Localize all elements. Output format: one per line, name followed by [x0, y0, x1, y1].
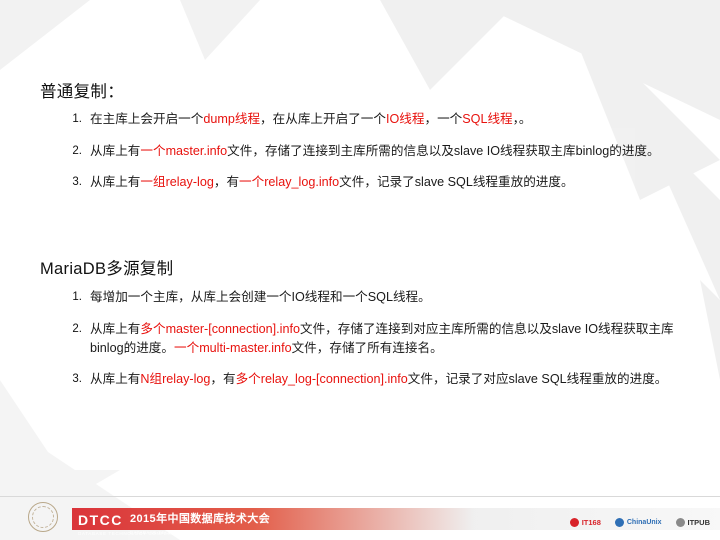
text-run: relay-log	[162, 372, 210, 386]
text-run: 文件，存储了连接到主库所需的信息以及slave IO线程获取主库binlog的进…	[227, 144, 659, 158]
list-item: 2. 从库上有多个master-[connection].info文件，存储了连…	[56, 320, 696, 358]
text-run: ，。	[513, 112, 532, 126]
text-run: relay_log-[connection].info	[261, 372, 408, 386]
conference-seal-icon	[22, 500, 62, 534]
sponsor-label: ChinaUnix	[627, 519, 662, 526]
seal-inner-ring	[32, 506, 54, 528]
text-run: 一个	[239, 175, 264, 189]
text-run: relay_log.info	[264, 175, 339, 189]
sponsor-label: IT168	[582, 518, 601, 527]
list-item-number: 2.	[56, 320, 90, 338]
list-item-number: 1.	[56, 288, 90, 306]
list-item: 2. 从库上有一个master.info文件，存储了连接到主库所需的信息以及sl…	[56, 142, 696, 161]
it168-mark-icon	[570, 518, 579, 527]
dtcc-logo: DTCC	[78, 512, 123, 528]
text-run: 多个	[140, 322, 165, 336]
slide-footer: DTCC DATABASE TECHNOLOGY CONFERENCE CHIN…	[0, 496, 720, 540]
sponsor-itpub: ITPUB	[676, 518, 711, 527]
sponsor-it168: IT168	[570, 518, 601, 527]
text-run: 从库上有	[90, 322, 140, 336]
text-run: 文件，记录了slave SQL线程重放的进度。	[339, 175, 573, 189]
list-item-text: 在主库上会开启一个dump线程，在从库上开启了一个IO线程，一个SQL线程，。	[90, 110, 532, 129]
section-2-list: 1. 每增加一个主库，从库上会创建一个IO线程和一个SQL线程。 2. 从库上有…	[56, 288, 696, 402]
text-run: relay-log	[166, 175, 214, 189]
itpub-mark-icon	[676, 518, 685, 527]
text-run: 每增加一个主库，从库上会创建一个IO线程和一个SQL线程。	[90, 290, 431, 304]
list-item: 1. 在主库上会开启一个dump线程，在从库上开启了一个IO线程，一个SQL线程…	[56, 110, 696, 129]
list-item: 3. 从库上有一组relay-log，有一个relay_log.info文件，记…	[56, 173, 696, 192]
list-item-number: 1.	[56, 110, 90, 128]
list-item-text: 从库上有一个master.info文件，存储了连接到主库所需的信息以及slave…	[90, 142, 660, 161]
text-run: 一个	[140, 144, 165, 158]
text-run: ，在从库上开启了一个	[260, 112, 386, 126]
conference-title-subtitle: DATABASE TECHNOLOGY CONFERENCE CHINA 201…	[130, 530, 263, 535]
slide: 普通复制： 1. 在主库上会开启一个dump线程，在从库上开启了一个IO线程，一…	[0, 0, 720, 540]
text-run: 文件，存储了所有连接名。	[292, 341, 443, 355]
text-run: ，一个	[424, 112, 462, 126]
footer-divider	[0, 496, 720, 497]
text-run: master-[connection].info	[166, 322, 300, 336]
section-1-list: 1. 在主库上会开启一个dump线程，在从库上开启了一个IO线程，一个SQL线程…	[56, 110, 696, 205]
list-item-text: 每增加一个主库，从库上会创建一个IO线程和一个SQL线程。	[90, 288, 431, 307]
list-item: 1. 每增加一个主库，从库上会创建一个IO线程和一个SQL线程。	[56, 288, 696, 307]
text-run: SQL线程	[462, 112, 512, 126]
text-run: N组	[140, 372, 162, 386]
text-run: ，有	[214, 175, 239, 189]
list-item: 3. 从库上有N组relay-log，有多个relay_log-[connect…	[56, 370, 696, 389]
text-run: 在主库上会开启一个	[90, 112, 203, 126]
text-run: 一个	[174, 341, 199, 355]
text-run: ，有	[210, 372, 235, 386]
sponsor-label: ITPUB	[688, 518, 711, 527]
list-item-number: 3.	[56, 173, 90, 191]
chinaunix-mark-icon	[615, 518, 624, 527]
conference-title: 2015年中国数据库技术大会	[130, 510, 270, 526]
list-item-text: 从库上有一组relay-log，有一个relay_log.info文件，记录了s…	[90, 173, 574, 192]
text-run: 从库上有	[90, 372, 140, 386]
list-item-text: 从库上有多个master-[connection].info文件，存储了连接到对…	[90, 320, 690, 358]
text-run: 一组	[140, 175, 165, 189]
text-run: dump线程	[203, 112, 260, 126]
slide-content: 普通复制： 1. 在主库上会开启一个dump线程，在从库上开启了一个IO线程，一…	[0, 0, 720, 540]
list-item-number: 3.	[56, 370, 90, 388]
section-2-heading: MariaDB多源复制	[40, 255, 173, 279]
sponsor-chinaunix: ChinaUnix	[615, 518, 662, 527]
section-1-heading: 普通复制：	[40, 78, 124, 102]
list-item-text: 从库上有N组relay-log，有多个relay_log-[connection…	[90, 370, 667, 389]
text-run: master.info	[166, 144, 228, 158]
text-run: IO线程	[386, 112, 424, 126]
text-run: 多个	[236, 372, 261, 386]
text-run: 从库上有	[90, 144, 140, 158]
sponsor-logos: IT168 ChinaUnix ITPUB	[570, 518, 710, 527]
text-run: multi-master.info	[199, 341, 291, 355]
text-run: 文件，记录了对应slave SQL线程重放的进度。	[408, 372, 668, 386]
text-run: 从库上有	[90, 175, 140, 189]
list-item-number: 2.	[56, 142, 90, 160]
